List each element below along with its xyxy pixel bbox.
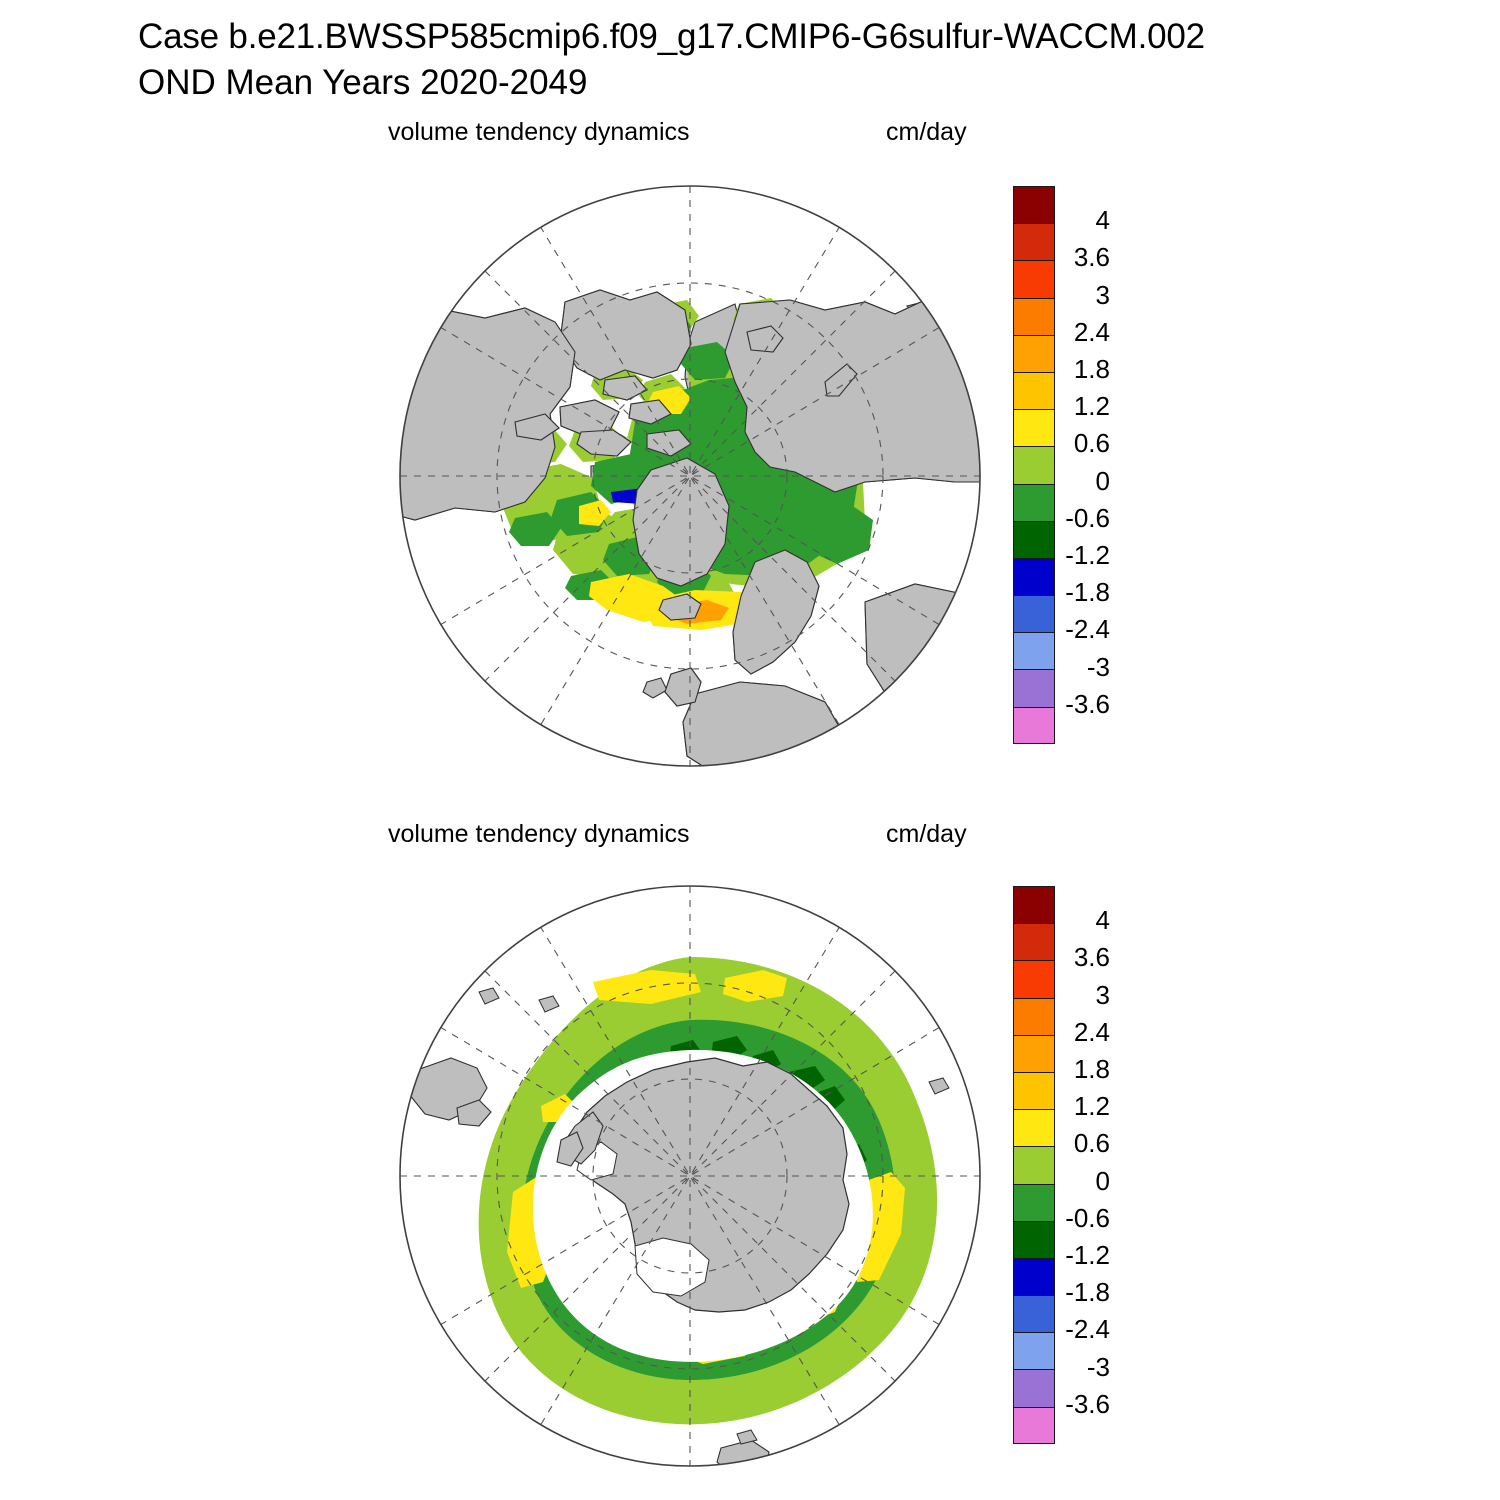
arctic-colorbar-tick-4: 1.8 (1000, 354, 1110, 385)
antarctic-units-label: cm/day (886, 820, 967, 849)
arctic-map-panel (395, 182, 990, 774)
arctic-colorbar-tick-2: 3 (1000, 280, 1110, 311)
antarctic-colorbar-tick-9: -1.2 (1000, 1240, 1110, 1271)
title-line-2: OND Mean Years 2020-2049 (138, 60, 1458, 106)
arctic-variable-label: volume tendency dynamics (388, 118, 690, 147)
antarctic-colorbar-tick-7: 0 (1000, 1166, 1110, 1197)
antarctic-colorbar-tick-3: 2.4 (1000, 1017, 1110, 1048)
arctic-colorbar-tick-13: -3.6 (1000, 689, 1110, 720)
arctic-colorbar-tick-5: 1.2 (1000, 391, 1110, 422)
antarctic-colorbar-tick-11: -2.4 (1000, 1314, 1110, 1345)
arctic-colorbar-tick-11: -2.4 (1000, 614, 1110, 645)
arctic-colorbar-tick-12: -3 (1000, 652, 1110, 683)
antarctic-variable-label: volume tendency dynamics (388, 820, 690, 849)
arctic-colorbar-tick-7: 0 (1000, 466, 1110, 497)
arctic-colorbar-tick-9: -1.2 (1000, 540, 1110, 571)
antarctic-map-panel (395, 882, 990, 1474)
antarctic-colorbar-tick-10: -1.8 (1000, 1277, 1110, 1308)
figure-canvas: Case b.e21.BWSSP585cmip6.f09_g17.CMIP6-G… (0, 0, 1500, 1500)
antarctic-colorbar-tick-2: 3 (1000, 980, 1110, 1011)
antarctic-colorbar-tick-1: 3.6 (1000, 942, 1110, 973)
antarctic-colorbar-tick-12: -3 (1000, 1352, 1110, 1383)
title-line-1: Case b.e21.BWSSP585cmip6.f09_g17.CMIP6-G… (138, 14, 1458, 60)
arctic-colorbar-tick-6: 0.6 (1000, 428, 1110, 459)
arctic-colorbar-tick-3: 2.4 (1000, 317, 1110, 348)
antarctic-colorbar-tick-8: -0.6 (1000, 1203, 1110, 1234)
arctic-colorbar-tick-10: -1.8 (1000, 577, 1110, 608)
arctic-colorbar-tick-8: -0.6 (1000, 503, 1110, 534)
figure-title: Case b.e21.BWSSP585cmip6.f09_g17.CMIP6-G… (138, 14, 1458, 106)
arctic-units-label: cm/day (886, 118, 967, 147)
antarctic-colorbar-tick-13: -3.6 (1000, 1389, 1110, 1420)
antarctic-colorbar-tick-6: 0.6 (1000, 1128, 1110, 1159)
arctic-colorbar-tick-0: 4 (1000, 205, 1110, 236)
arctic-colorbar-labels: 43.632.41.81.20.60-0.6-1.2-1.8-2.4-3-3.6 (1000, 186, 1110, 746)
antarctic-colorbar-tick-0: 4 (1000, 905, 1110, 936)
antarctic-map-svg (395, 882, 990, 1474)
arctic-colorbar-tick-1: 3.6 (1000, 242, 1110, 273)
antarctic-colorbar-tick-4: 1.8 (1000, 1054, 1110, 1085)
antarctic-colorbar-tick-5: 1.2 (1000, 1091, 1110, 1122)
arctic-map-svg (395, 182, 990, 774)
antarctic-colorbar-labels: 43.632.41.81.20.60-0.6-1.2-1.8-2.4-3-3.6 (1000, 886, 1110, 1446)
